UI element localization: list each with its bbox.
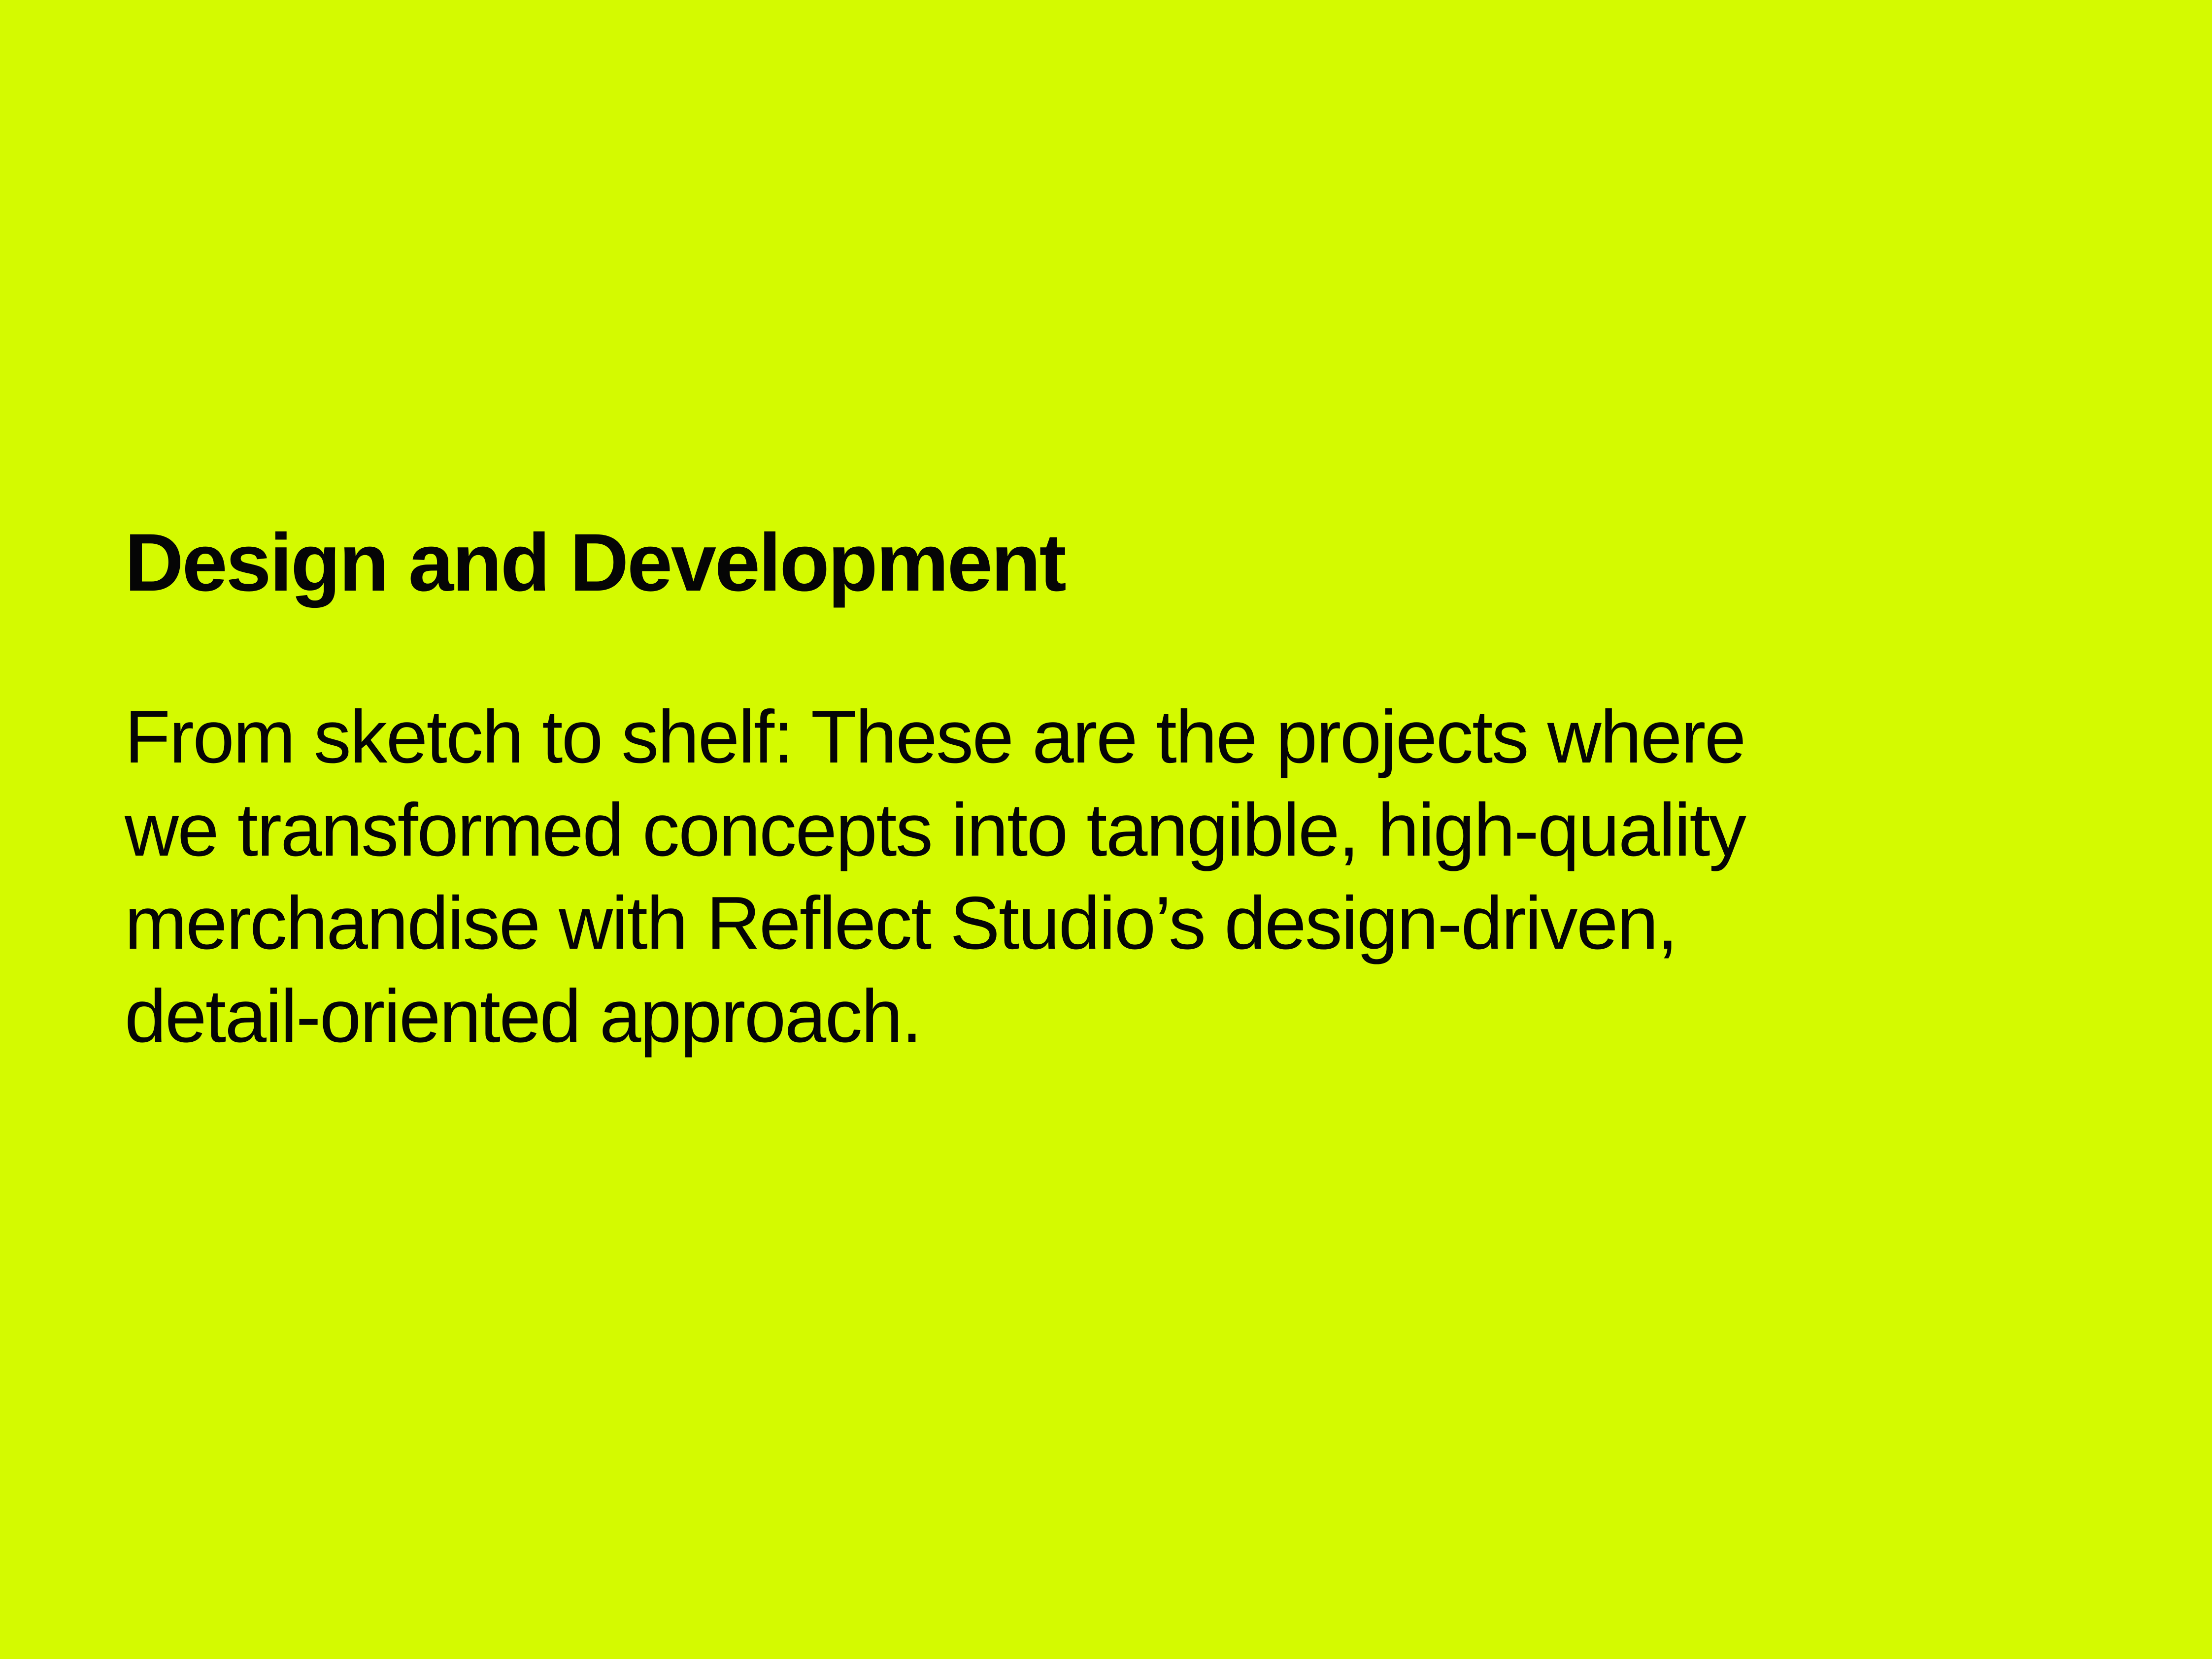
section-body-paragraph: From sketch to shelf: These are the proj… [125,604,2125,1063]
body-line-3: merchandise with Reflect Studio’s design… [125,877,2125,970]
body-line-2: we transformed concepts into tangible, h… [125,784,2125,877]
section-heading: Design and Development [125,522,2125,604]
section-content-block: Design and Development From sketch to sh… [125,522,2125,1063]
body-line-4: detail-oriented approach. [125,970,2125,1063]
slide-canvas: Design and Development From sketch to sh… [0,0,2212,1659]
body-line-1: From sketch to shelf: These are the proj… [125,691,2125,784]
